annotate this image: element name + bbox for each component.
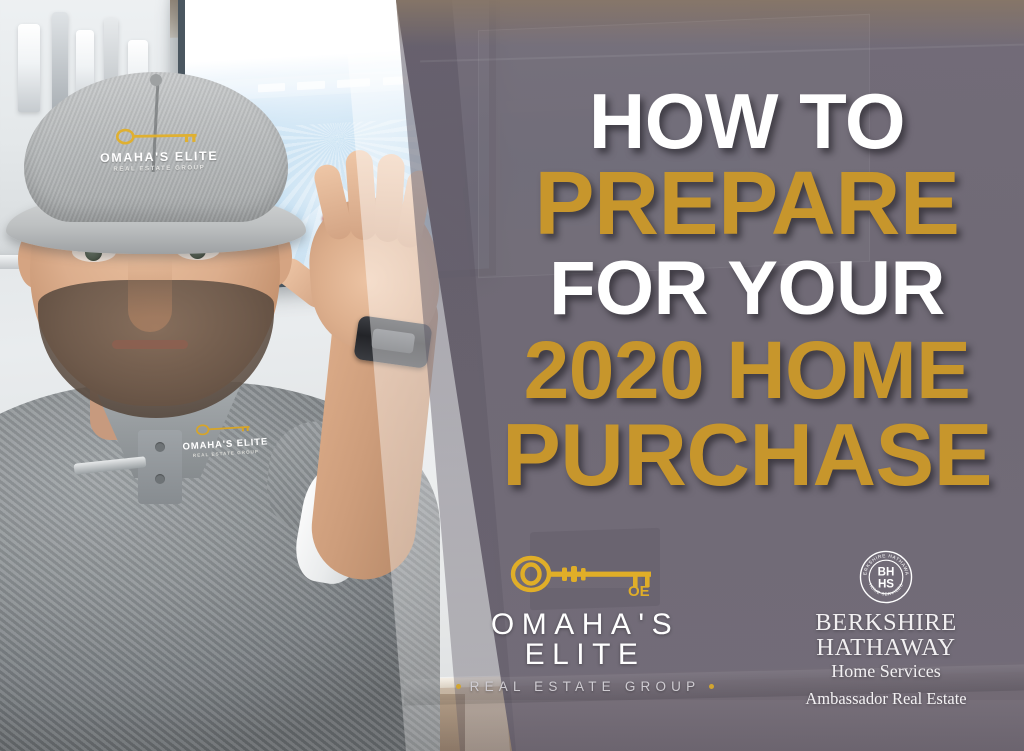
cap-button: [150, 74, 162, 86]
desk-equipment: [530, 528, 660, 611]
thumbnail-canvas: OMAHA'S ELITE REAL ESTATE GROUP: [0, 0, 1024, 751]
cap-logo-name: OMAHA'S ELITE: [84, 150, 234, 165]
background-photo: OMAHA'S ELITE REAL ESTATE GROUP: [0, 0, 1024, 751]
skeleton-key-icon: [115, 127, 203, 145]
presenter: OMAHA'S ELITE REAL ESTATE GROUP: [0, 30, 430, 751]
shirt-button: [155, 474, 165, 484]
finger: [345, 149, 378, 241]
wall-monitor-secondary: [500, 0, 750, 231]
mouth: [112, 340, 188, 349]
nose: [128, 258, 172, 332]
desk-equipment-top: [546, 576, 642, 588]
cap-embroidered-logo: OMAHA'S ELITE REAL ESTATE GROUP: [84, 127, 235, 173]
monitor-nav-bar: [500, 89, 750, 114]
shirt-button: [155, 442, 165, 452]
skeleton-key-icon: [195, 421, 254, 436]
baseball-cap: OMAHA'S ELITE REAL ESTATE GROUP: [6, 72, 306, 242]
